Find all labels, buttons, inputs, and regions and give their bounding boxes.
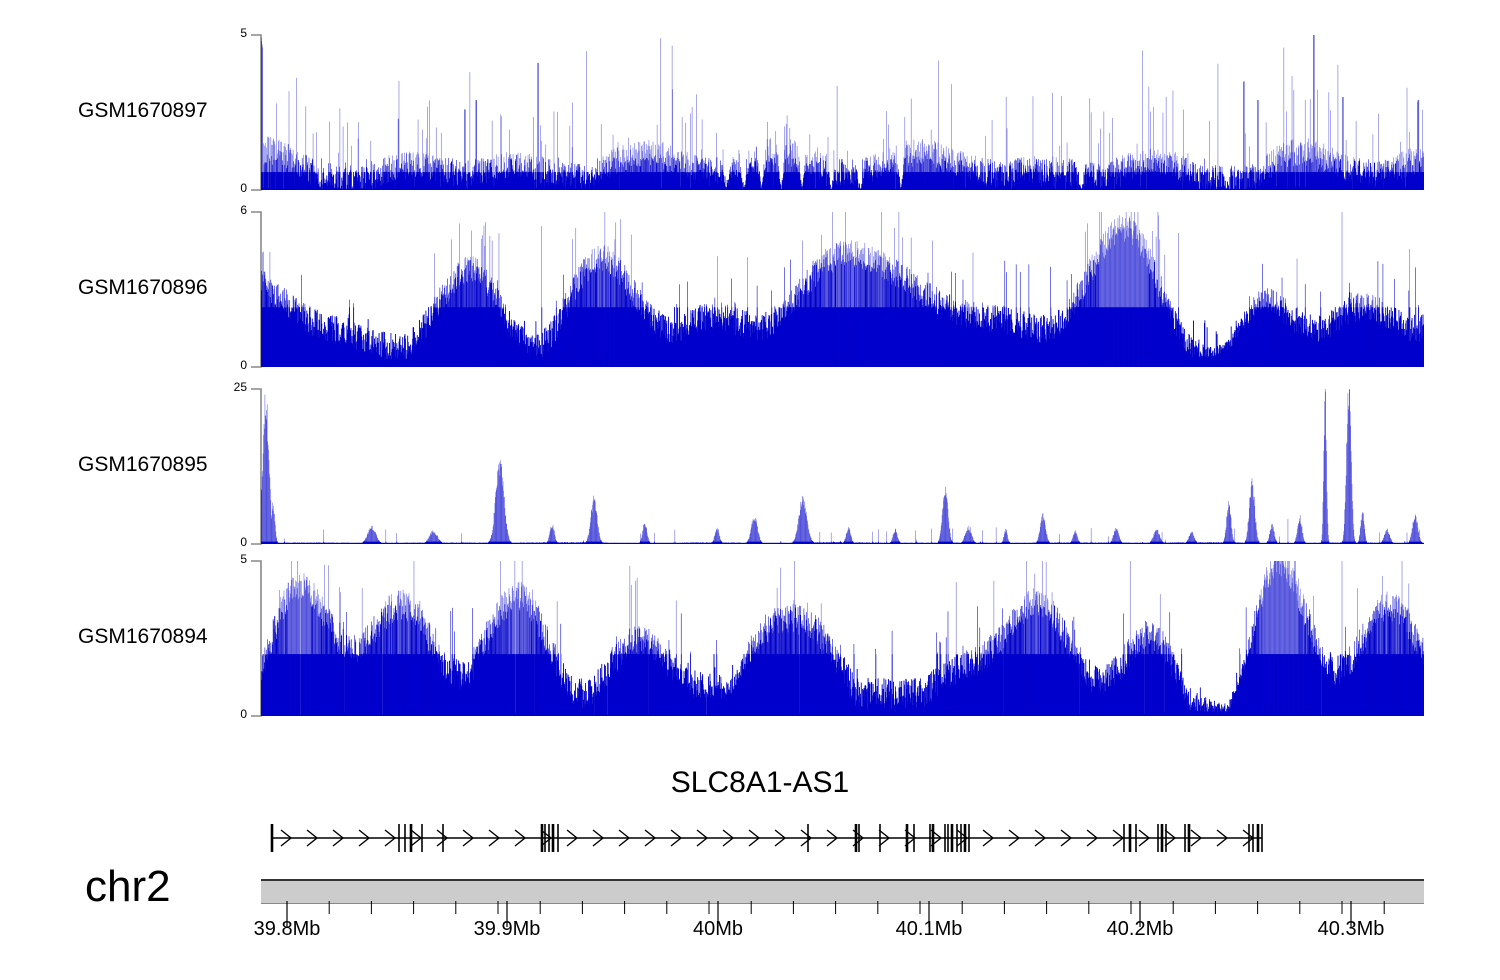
y-axis-max-track-2: 6: [213, 203, 247, 217]
y-axis-min-track-3: 0: [213, 535, 247, 549]
genome-browser-view: GSM1670897 GSM1670896 GSM1670895 GSM1670…: [0, 0, 1500, 980]
ruler-tick-label: 40.2Mb: [1080, 918, 1200, 941]
y-axis-max-track-1: 5: [213, 26, 247, 40]
track-label-gsm1670895: GSM1670895: [78, 453, 208, 477]
chromosome-label: chr2: [85, 862, 171, 912]
signal-track-gsm1670896[interactable]: [261, 212, 1424, 367]
track-label-gsm1670894: GSM1670894: [78, 625, 208, 649]
gene-name-label: SLC8A1-AS1: [0, 766, 1500, 800]
ruler-tick-label: 40Mb: [658, 918, 778, 941]
ruler-tick-label: 40.3Mb: [1291, 918, 1411, 941]
track-label-gsm1670896: GSM1670896: [78, 276, 208, 300]
ruler-tick-label: 39.8Mb: [227, 918, 347, 941]
chromosome-ideogram-bar[interactable]: [261, 879, 1424, 904]
signal-track-gsm1670894[interactable]: [261, 561, 1424, 716]
signal-track-gsm1670895[interactable]: [261, 389, 1424, 544]
y-axis-min-track-2: 0: [213, 358, 247, 372]
ruler-tick-label: 39.9Mb: [447, 918, 567, 941]
gene-model-track[interactable]: [0, 808, 1500, 868]
y-axis-max-track-3: 25: [213, 380, 247, 394]
signal-track-gsm1670897[interactable]: [261, 35, 1424, 190]
y-axis-max-track-4: 5: [213, 552, 247, 566]
ruler-tick-label: 40.1Mb: [869, 918, 989, 941]
y-axis-min-track-4: 0: [213, 707, 247, 721]
track-label-gsm1670897: GSM1670897: [78, 99, 208, 123]
y-axis-min-track-1: 0: [213, 181, 247, 195]
